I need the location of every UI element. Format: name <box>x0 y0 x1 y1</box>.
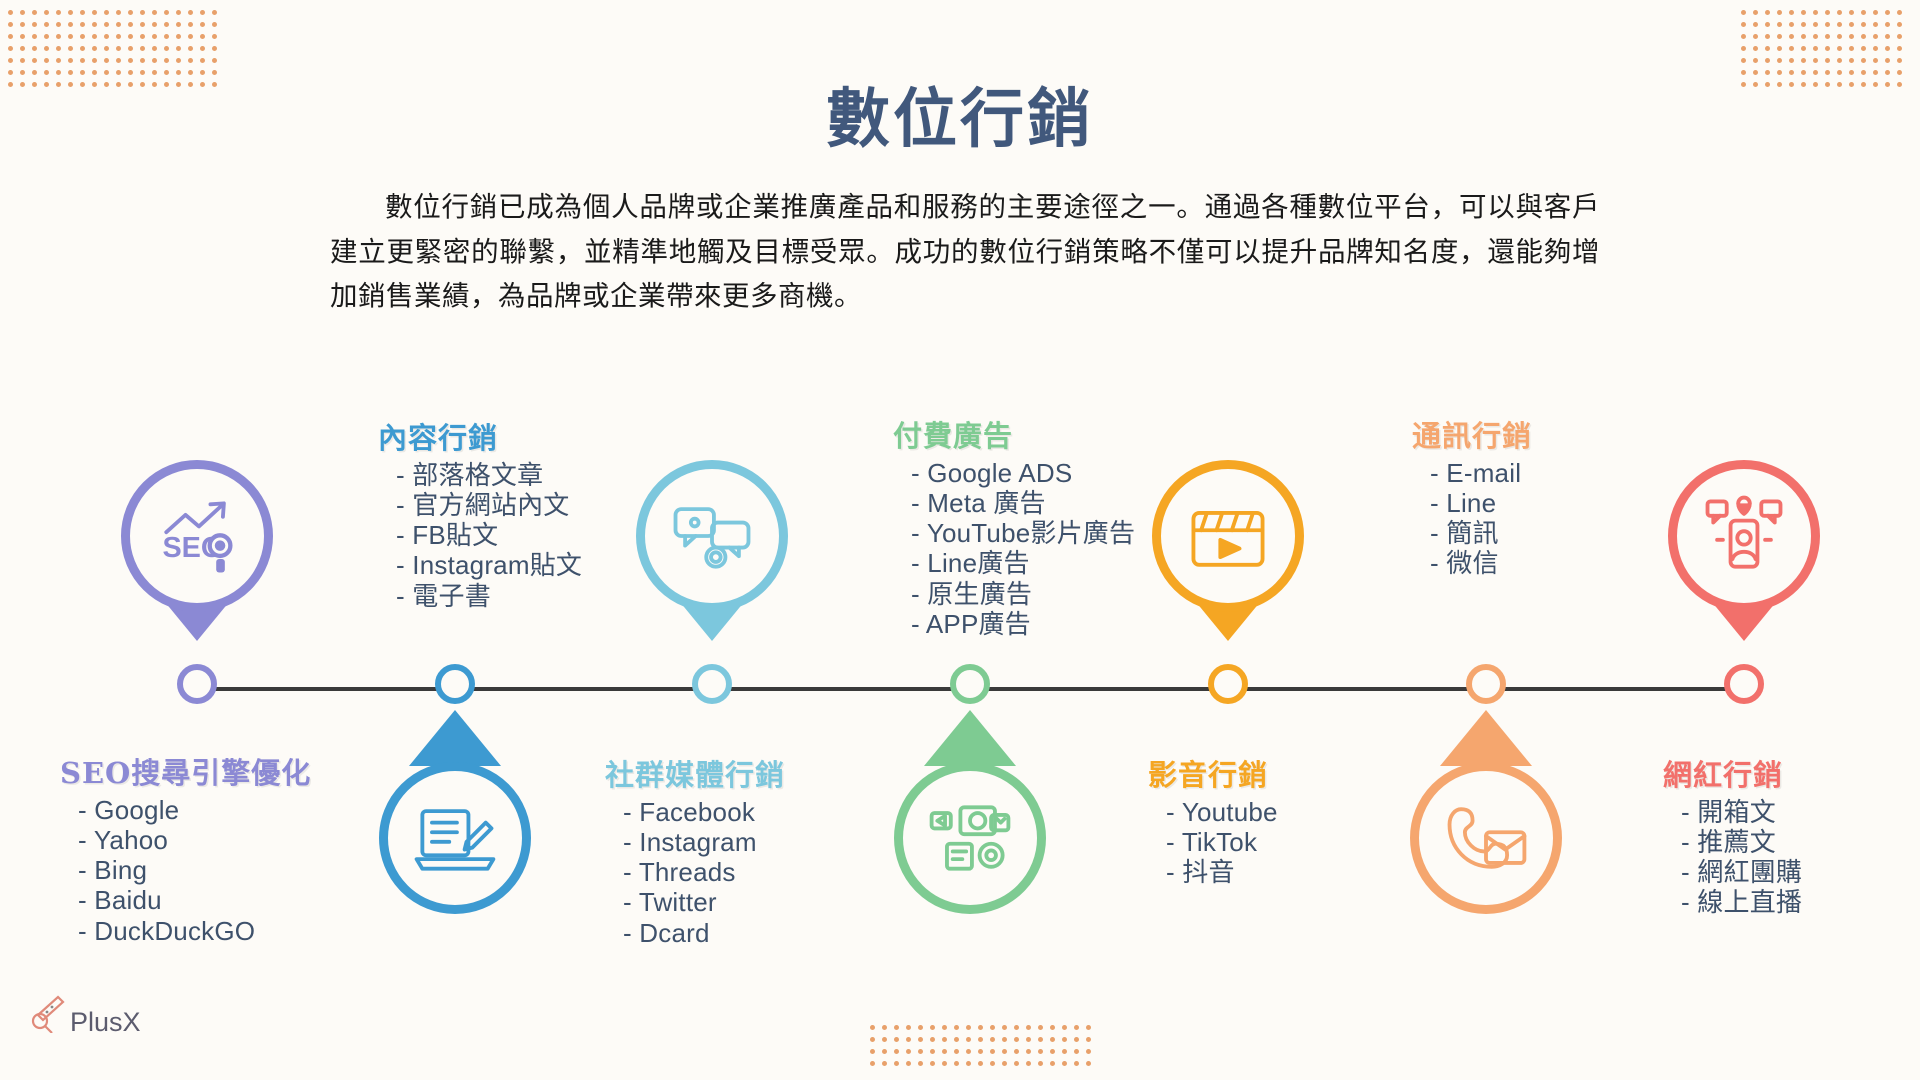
category-block-influencer-marketing: 網紅行銷開箱文推薦文網紅團購線上直播 <box>1663 752 1802 918</box>
timeline-node-paid-ads[interactable] <box>950 664 990 704</box>
list-item: Yahoo <box>78 825 311 855</box>
marker-tail <box>1440 710 1532 766</box>
list-item: Google ADS <box>911 458 1135 488</box>
phone-email-icon <box>1410 762 1562 914</box>
page-title: 數位行銷 <box>0 68 1920 160</box>
list-item: DuckDuckGO <box>78 916 311 946</box>
category-title-paid-ads: 付費廣告 <box>893 413 1135 455</box>
drop-messaging-marketing[interactable] <box>1410 762 1562 914</box>
category-list-influencer-marketing: 開箱文推薦文網紅團購線上直播 <box>1663 797 1802 918</box>
list-item: 電子書 <box>396 581 582 611</box>
list-item: E-mail <box>1430 458 1532 488</box>
intro-paragraph: 數位行銷已成為個人品牌或企業推廣產品和服務的主要途徑之一。通過各種數位平台，可以… <box>330 185 1600 319</box>
drop-content-marketing[interactable] <box>379 762 531 914</box>
timeline-node-content-marketing[interactable] <box>435 664 475 704</box>
marker-tail <box>409 710 501 766</box>
list-item: 網紅團購 <box>1681 857 1802 887</box>
category-title-video-marketing: 影音行銷 <box>1148 752 1278 794</box>
list-item: Baidu <box>78 885 311 915</box>
list-item: TikTok <box>1166 827 1278 857</box>
category-list-seo: GoogleYahooBingBaiduDuckDuckGO <box>60 795 311 946</box>
category-title-seo: SEO搜尋引擎優化 <box>60 750 311 792</box>
category-block-video-marketing: 影音行銷YoutubeTikTok抖音 <box>1148 752 1278 887</box>
pin-influencer-marketing[interactable] <box>1668 460 1820 612</box>
pin-seo[interactable]: SEO <box>121 460 273 612</box>
list-item: Dcard <box>623 918 785 948</box>
list-item: Threads <box>623 857 785 887</box>
category-list-video-marketing: YoutubeTikTok抖音 <box>1148 797 1278 887</box>
pin-social-media-marketing[interactable] <box>636 460 788 612</box>
decor-dots-bottom-center <box>870 1025 1091 1066</box>
megaphone-ads-icon <box>894 762 1046 914</box>
list-item: APP廣告 <box>911 609 1135 639</box>
list-item: YouTube影片廣告 <box>911 518 1135 548</box>
list-item: 簡訊 <box>1430 518 1532 548</box>
list-item: Youtube <box>1166 797 1278 827</box>
category-list-paid-ads: Google ADSMeta 廣告YouTube影片廣告Line廣告原生廣告AP… <box>893 458 1135 639</box>
document-pen-laptop-icon <box>379 762 531 914</box>
list-item: 抖音 <box>1166 857 1278 887</box>
category-list-content-marketing: 部落格文章官方網站內文FB貼文Instagram貼文電子書 <box>378 460 582 611</box>
list-item: 推薦文 <box>1681 827 1802 857</box>
timeline-node-seo[interactable] <box>177 664 217 704</box>
brand-logo-text: PlusX <box>70 1007 141 1038</box>
category-title-social-media-marketing: 社群媒體行銷 <box>605 752 785 794</box>
category-title-content-marketing: 內容行銷 <box>378 415 582 457</box>
pin-video-marketing[interactable] <box>1152 460 1304 612</box>
category-title-influencer-marketing: 網紅行銷 <box>1663 752 1802 794</box>
list-item: 線上直播 <box>1681 887 1802 917</box>
category-block-seo: SEO搜尋引擎優化GoogleYahooBingBaiduDuckDuckGO <box>60 750 311 946</box>
list-item: 微信 <box>1430 548 1532 578</box>
brand-logo: PlusX <box>28 993 141 1038</box>
timeline-node-influencer-marketing[interactable] <box>1724 664 1764 704</box>
drop-paid-ads[interactable] <box>894 762 1046 914</box>
timeline-node-social-media-marketing[interactable] <box>692 664 732 704</box>
list-item: FB貼文 <box>396 520 582 550</box>
list-item: Google <box>78 795 311 825</box>
list-item: Twitter <box>623 887 785 917</box>
list-item: Line <box>1430 488 1532 518</box>
category-block-social-media-marketing: 社群媒體行銷FacebookInstagramThreadsTwitterDca… <box>605 752 785 948</box>
list-item: Meta 廣告 <box>911 488 1135 518</box>
list-item: 官方網站內文 <box>396 490 582 520</box>
timeline-node-video-marketing[interactable] <box>1208 664 1248 704</box>
category-title-messaging-marketing: 通訊行銷 <box>1412 413 1532 455</box>
list-item: Bing <box>78 855 311 885</box>
timeline-node-messaging-marketing[interactable] <box>1466 664 1506 704</box>
category-block-paid-ads: 付費廣告Google ADSMeta 廣告YouTube影片廣告Line廣告原生… <box>893 413 1135 639</box>
category-block-messaging-marketing: 通訊行銷E-mailLine簡訊微信 <box>1412 413 1532 579</box>
list-item: 開箱文 <box>1681 797 1802 827</box>
video-play-icon <box>1152 460 1304 612</box>
list-item: Instagram <box>623 827 785 857</box>
seo-growth-icon: SEO <box>121 460 273 612</box>
category-list-social-media-marketing: FacebookInstagramThreadsTwitterDcard <box>605 797 785 948</box>
list-item: 部落格文章 <box>396 460 582 490</box>
category-block-content-marketing: 內容行銷部落格文章官方網站內文FB貼文Instagram貼文電子書 <box>378 415 582 611</box>
marker-tail <box>924 710 1016 766</box>
list-item: 原生廣告 <box>911 579 1135 609</box>
list-item: Facebook <box>623 797 785 827</box>
influencer-phone-icon <box>1668 460 1820 612</box>
chat-bubbles-icon <box>636 460 788 612</box>
list-item: Instagram貼文 <box>396 550 582 580</box>
magnifier-pen-icon <box>28 993 68 1038</box>
list-item: Line廣告 <box>911 548 1135 578</box>
category-list-messaging-marketing: E-mailLine簡訊微信 <box>1412 458 1532 579</box>
